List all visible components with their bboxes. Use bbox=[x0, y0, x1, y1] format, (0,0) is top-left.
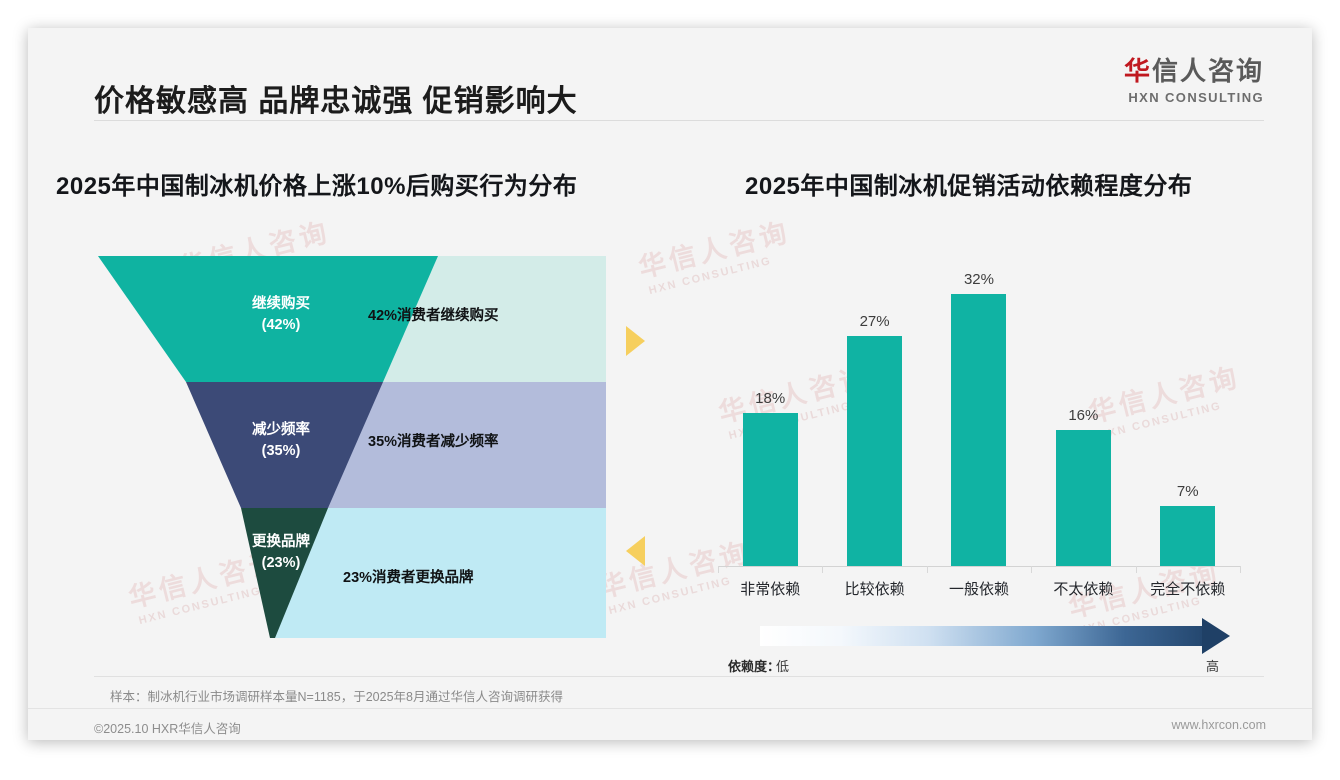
logo-english-text: HXN CONSULTING bbox=[1124, 91, 1264, 104]
bar-rect[interactable] bbox=[847, 336, 902, 566]
bar-value-label: 16% bbox=[1068, 407, 1098, 424]
funnel-band-title: 更换品牌 bbox=[252, 534, 310, 550]
bar-column[interactable]: 18% bbox=[721, 268, 820, 566]
left-section-heading: 2025年中国制冰机价格上涨10%后购买行为分布 bbox=[56, 166, 577, 201]
bar-column[interactable]: 32% bbox=[929, 268, 1028, 566]
bar-value-label: 18% bbox=[755, 390, 785, 407]
triangle-left-icon bbox=[626, 536, 645, 566]
funnel-band-shape bbox=[98, 382, 606, 508]
funnel-band-shape bbox=[98, 256, 606, 382]
right-section-heading: 2025年中国制冰机促销活动依赖程度分布 bbox=[745, 166, 1192, 201]
bar-column[interactable]: 27% bbox=[825, 268, 924, 566]
category-label: 一般依赖 bbox=[929, 578, 1028, 599]
funnel-band-percent: (23%) bbox=[262, 555, 301, 571]
bar-rect[interactable] bbox=[951, 294, 1006, 566]
slide-canvas: 华信人咨询 HXN CONSULTING 华信人咨询 HXN CONSULTIN… bbox=[28, 28, 1312, 740]
funnel-band-title: 减少频率 bbox=[252, 422, 310, 438]
funnel-band-percent: (35%) bbox=[262, 443, 301, 459]
axis-tick bbox=[1136, 566, 1137, 573]
funnel-band[interactable]: 减少频率 (35%) 35%消费者减少频率 bbox=[98, 382, 606, 508]
bar-rect[interactable] bbox=[743, 413, 798, 566]
axis-tick bbox=[927, 566, 928, 573]
category-label: 比较依赖 bbox=[825, 578, 924, 599]
bar-group: 18% 27% 32% 16% 7% bbox=[718, 268, 1240, 566]
axis-tick bbox=[718, 566, 719, 573]
bar-column[interactable]: 16% bbox=[1034, 268, 1133, 566]
bar-rect[interactable] bbox=[1056, 430, 1111, 566]
footnote-divider bbox=[94, 676, 1264, 677]
axis-tick bbox=[822, 566, 823, 573]
funnel-band-title: 继续购买 bbox=[252, 296, 310, 312]
footer-divider bbox=[28, 708, 1312, 709]
footer-website[interactable]: www.hxrcon.com bbox=[1172, 718, 1266, 732]
bar-column[interactable]: 7% bbox=[1138, 268, 1237, 566]
funnel-band-note: 35%消费者减少频率 bbox=[368, 430, 499, 451]
category-label: 不太依赖 bbox=[1034, 578, 1133, 599]
bar-value-label: 7% bbox=[1177, 483, 1199, 500]
gradient-arrow-icon bbox=[1202, 618, 1230, 654]
funnel-band-note: 42%消费者继续购买 bbox=[368, 304, 499, 325]
funnel-band[interactable]: 更换品牌 (23%) 23%消费者更换品牌 bbox=[98, 508, 606, 638]
bar-value-label: 27% bbox=[860, 313, 890, 330]
dependency-gradient-legend: 依赖度： 低 高 bbox=[728, 622, 1258, 684]
gradient-bar bbox=[760, 626, 1204, 646]
funnel-band-label: 继续购买 (42%) bbox=[216, 294, 346, 336]
funnel-band-note: 23%消费者更换品牌 bbox=[343, 566, 474, 587]
bar-value-label: 32% bbox=[964, 271, 994, 288]
triangle-right-icon bbox=[626, 326, 645, 356]
funnel-chart: 继续购买 (42%) 42%消费者继续购买 减少频率 (35%) 35%消费者减… bbox=[98, 256, 606, 638]
footer-copyright: ©2025.10 HXR华信人咨询 bbox=[94, 718, 241, 737]
header-divider bbox=[94, 120, 1264, 121]
x-axis-ticks bbox=[718, 566, 1240, 573]
logo-chinese-text: 华信人咨询 bbox=[1124, 58, 1264, 84]
funnel-band[interactable]: 继续购买 (42%) 42%消费者继续购买 bbox=[98, 256, 606, 382]
bar-rect[interactable] bbox=[1160, 506, 1215, 566]
legend-low-label: 低 bbox=[776, 656, 789, 675]
x-axis-category-labels: 非常依赖 比较依赖 一般依赖 不太依赖 完全不依赖 bbox=[718, 578, 1240, 599]
axis-tick bbox=[1031, 566, 1032, 573]
legend-title: 依赖度： bbox=[728, 656, 780, 675]
dependency-bar-chart: 18% 27% 32% 16% 7% bbox=[688, 268, 1248, 598]
category-label: 完全不依赖 bbox=[1138, 578, 1237, 599]
sample-footnote: 样本：制冰机行业市场调研样本量N=1185，于2025年8月通过华信人咨询调研获… bbox=[110, 686, 563, 705]
page-title: 价格敏感高 品牌忠诚强 促销影响大 bbox=[94, 76, 578, 120]
category-label: 非常依赖 bbox=[721, 578, 820, 599]
funnel-band-label: 更换品牌 (23%) bbox=[216, 532, 346, 574]
funnel-band-label: 减少频率 (35%) bbox=[216, 420, 346, 462]
funnel-band-percent: (42%) bbox=[262, 317, 301, 333]
axis-tick bbox=[1240, 566, 1241, 573]
brand-logo: 华信人咨询 HXN CONSULTING bbox=[1124, 58, 1264, 104]
logo-cn-rest: 信人咨询 bbox=[1152, 56, 1264, 86]
legend-high-label: 高 bbox=[1206, 656, 1219, 675]
